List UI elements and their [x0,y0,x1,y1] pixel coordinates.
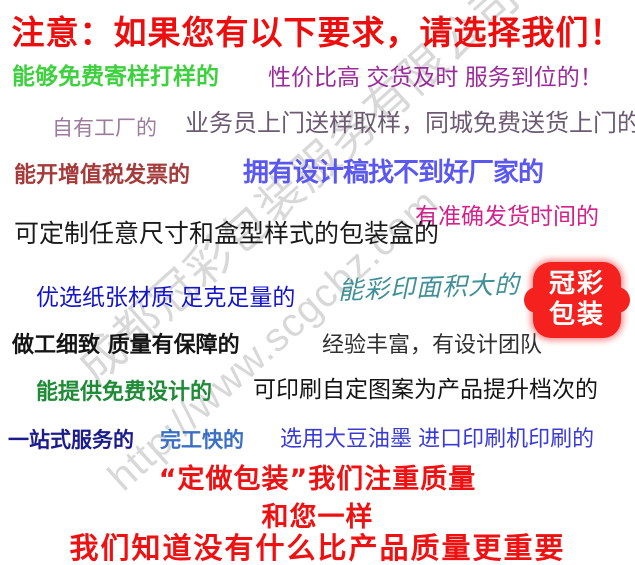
selling-point-free-design: 能提供免费设计的 [36,382,212,404]
footer-slogan-line1: “定做包装”我们注重质量 [0,466,635,493]
selling-point-free-sample: 能够免费寄样打样的 [12,66,219,89]
page-title: 注意：如果您有以下要求，请选择我们！ [0,16,635,49]
selling-point-soybean-ink: 选用大豆油墨 进口印刷机印刷的 [280,428,594,450]
brand-logo: 冠彩 包装 [533,262,621,338]
selling-point-own-factory: 自有工厂的 [52,118,157,139]
selling-point-one-stop-service: 一站式服务的 [8,430,134,451]
selling-point-value-service: 性价比高 交货及时 服务到位的！ [268,66,603,89]
selling-point-fast-completion: 完工快的 [160,430,244,451]
selling-point-experienced-team: 经验丰富，有设计团队 [322,334,542,356]
brand-logo-line2: 包装 [549,300,605,331]
brand-logo-line1: 冠彩 [549,269,605,300]
selling-point-large-area-print: 能彩印面积大的 [338,273,521,304]
promo-poster: 成都冠彩包装服务有限公司 http://www.scgcbz.com 注意：如果… [0,0,635,565]
selling-point-custom-box: 可定制任意尺寸和盒型样式的包装盒的 [14,222,439,247]
selling-point-accurate-delivery-time: 有准确发货时间的 [415,205,599,228]
selling-point-custom-pattern-print: 可印刷自定图案为产品提升档次的 [253,378,598,401]
footer-slogan-line2: 和您一样 [0,504,635,531]
selling-point-has-design-draft: 拥有设计稿找不到好厂家的 [243,160,543,186]
selling-point-workmanship-quality: 做工细致 质量有保障的 [12,335,240,357]
selling-point-vat-invoice: 能开增值税发票的 [14,165,190,187]
brand-logo-text: 冠彩 包装 [533,262,621,338]
selling-point-paper-quality: 优选纸张材质 足克足量的 [36,286,295,309]
selling-point-salesman-delivery: 业务员上门送样取样，同城免费送货上门的 [185,112,635,136]
footer-slogan-line3: 我们知道没有什么比产品质量更重要 [0,534,635,563]
